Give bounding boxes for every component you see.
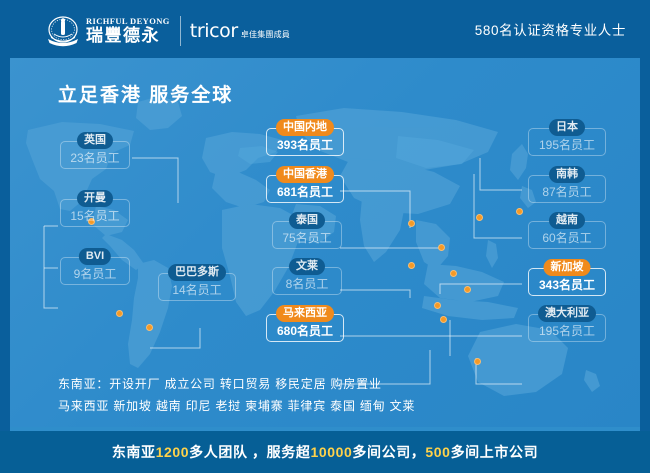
map-dot-caribbean[interactable]: [116, 310, 123, 317]
map-dot-barbados[interactable]: [146, 324, 153, 331]
location-count: 680名员工: [277, 324, 333, 338]
summary-seg-3: 多间公司，: [352, 444, 425, 460]
crest-emblem-icon: [46, 16, 80, 47]
logo-chinese-name: 瑞豐德永: [86, 26, 170, 46]
bottom-summary-bar: 东南亚1200多人团队 ，服务超10000多间公司，500多间上市公司: [0, 431, 650, 473]
brand-logo[interactable]: RICHFUL DEYONG 瑞豐德永 tricor 卓佳集團成員: [46, 14, 290, 48]
partner-brand-subtitle: 卓佳集團成員: [241, 29, 290, 41]
map-dot-japan[interactable]: [516, 208, 523, 215]
location-card-cayman[interactable]: 15名员工 开曼: [60, 199, 130, 227]
summary-seg-1: 东南亚: [112, 444, 156, 460]
location-count: 393名员工: [277, 138, 333, 152]
map-dot-thailand[interactable]: [408, 262, 415, 269]
location-count: 15名员工: [70, 209, 119, 223]
location-name: 英国: [77, 132, 113, 149]
panel-title: 立足香港 服务全球: [58, 80, 233, 107]
map-dot-brunei[interactable]: [464, 286, 471, 293]
location-name: 中国内地: [276, 119, 334, 136]
map-panel: 立足香港 服务全球 23名员工 英国 15名员工 开曼: [10, 58, 640, 431]
location-count: 87名员工: [542, 185, 591, 199]
location-name: 巴巴多斯: [168, 264, 226, 281]
location-name: 南韩: [549, 166, 585, 183]
page-header: RICHFUL DEYONG 瑞豐德永 tricor 卓佳集團成員 580名认证…: [0, 0, 650, 58]
map-dot-singapore[interactable]: [440, 316, 447, 323]
footer-line-countries: 马来西亚 新加坡 越南 印尼 老挝 柬埔寨 菲律宾 泰国 缅甸 文莱: [58, 395, 415, 417]
partner-brand-name: tricor: [190, 21, 238, 41]
location-count: 343名员工: [539, 278, 595, 292]
location-card-malaysia[interactable]: 680名员工 马来西亚: [266, 314, 344, 342]
footer-line-services: 东南亚：开设开厂 成立公司 转口贸易 移民定居 购房置业: [58, 373, 415, 395]
location-name: 马来西亚: [276, 305, 334, 322]
location-card-uk[interactable]: 23名员工 英国: [60, 141, 130, 169]
location-card-singapore[interactable]: 343名员工 新加坡: [528, 268, 606, 296]
panel-footer-text: 东南亚：开设开厂 成立公司 转口贸易 移民定居 购房置业 马来西亚 新加坡 越南…: [58, 373, 415, 417]
map-dot-vietnam[interactable]: [450, 270, 457, 277]
map-dot-korea[interactable]: [476, 214, 483, 221]
summary-number-companies: 10000: [310, 444, 352, 460]
location-card-hongkong[interactable]: 681名员工 中国香港: [266, 175, 344, 203]
slide-root: RICHFUL DEYONG 瑞豐德永 tricor 卓佳集團成員 580名认证…: [0, 0, 650, 473]
location-name: 中国香港: [276, 166, 334, 183]
location-card-thailand[interactable]: 75名员工 泰国: [272, 221, 342, 249]
location-card-bvi[interactable]: 9名员工 BVI: [60, 257, 130, 285]
map-dot-china[interactable]: [408, 220, 415, 227]
location-name: 日本: [549, 119, 585, 136]
summary-number-listed: 500: [425, 444, 450, 460]
location-card-brunei[interactable]: 8名员工 文莱: [272, 267, 342, 295]
location-count: 195名员工: [539, 324, 595, 338]
location-name: 澳大利亚: [538, 305, 596, 322]
location-count: 195名员工: [539, 138, 595, 152]
bottom-summary-text: 东南亚1200多人团队 ，服务超10000多间公司，500多间上市公司: [112, 442, 538, 462]
summary-seg-2: 多人团队 ，服务超: [189, 444, 310, 460]
location-count: 60名员工: [542, 231, 591, 245]
header-stat-text: 580名认证资格专业人士: [475, 19, 626, 39]
location-card-japan[interactable]: 195名员工 日本: [528, 128, 606, 156]
logo-english-name: RICHFUL DEYONG: [86, 16, 170, 26]
logo-divider: [180, 16, 181, 46]
location-count: 23名员工: [70, 151, 119, 165]
location-count: 75名员工: [282, 231, 331, 245]
map-dot-australia[interactable]: [474, 358, 481, 365]
location-card-south-korea[interactable]: 87名员工 南韩: [528, 175, 606, 203]
location-name: 开曼: [77, 190, 113, 207]
location-count: 9名员工: [74, 267, 117, 281]
location-card-barbados[interactable]: 14名员工 巴巴多斯: [158, 273, 236, 301]
summary-number-team: 1200: [156, 444, 190, 460]
location-count: 14名员工: [172, 283, 221, 297]
location-name: 越南: [549, 212, 585, 229]
location-name: 新加坡: [544, 259, 591, 276]
map-dot-hongkong[interactable]: [438, 244, 445, 251]
location-card-vietnam[interactable]: 60名员工 越南: [528, 221, 606, 249]
map-dot-malaysia[interactable]: [434, 302, 441, 309]
summary-seg-4: 多间上市公司: [451, 444, 539, 460]
location-count: 8名员工: [286, 277, 329, 291]
location-name: 泰国: [289, 212, 325, 229]
location-name: 文莱: [289, 258, 325, 275]
location-count: 681名员工: [277, 185, 333, 199]
location-card-australia[interactable]: 195名员工 澳大利亚: [528, 314, 606, 342]
location-name: BVI: [79, 248, 111, 265]
location-card-mainland-china[interactable]: 393名员工 中国内地: [266, 128, 344, 156]
